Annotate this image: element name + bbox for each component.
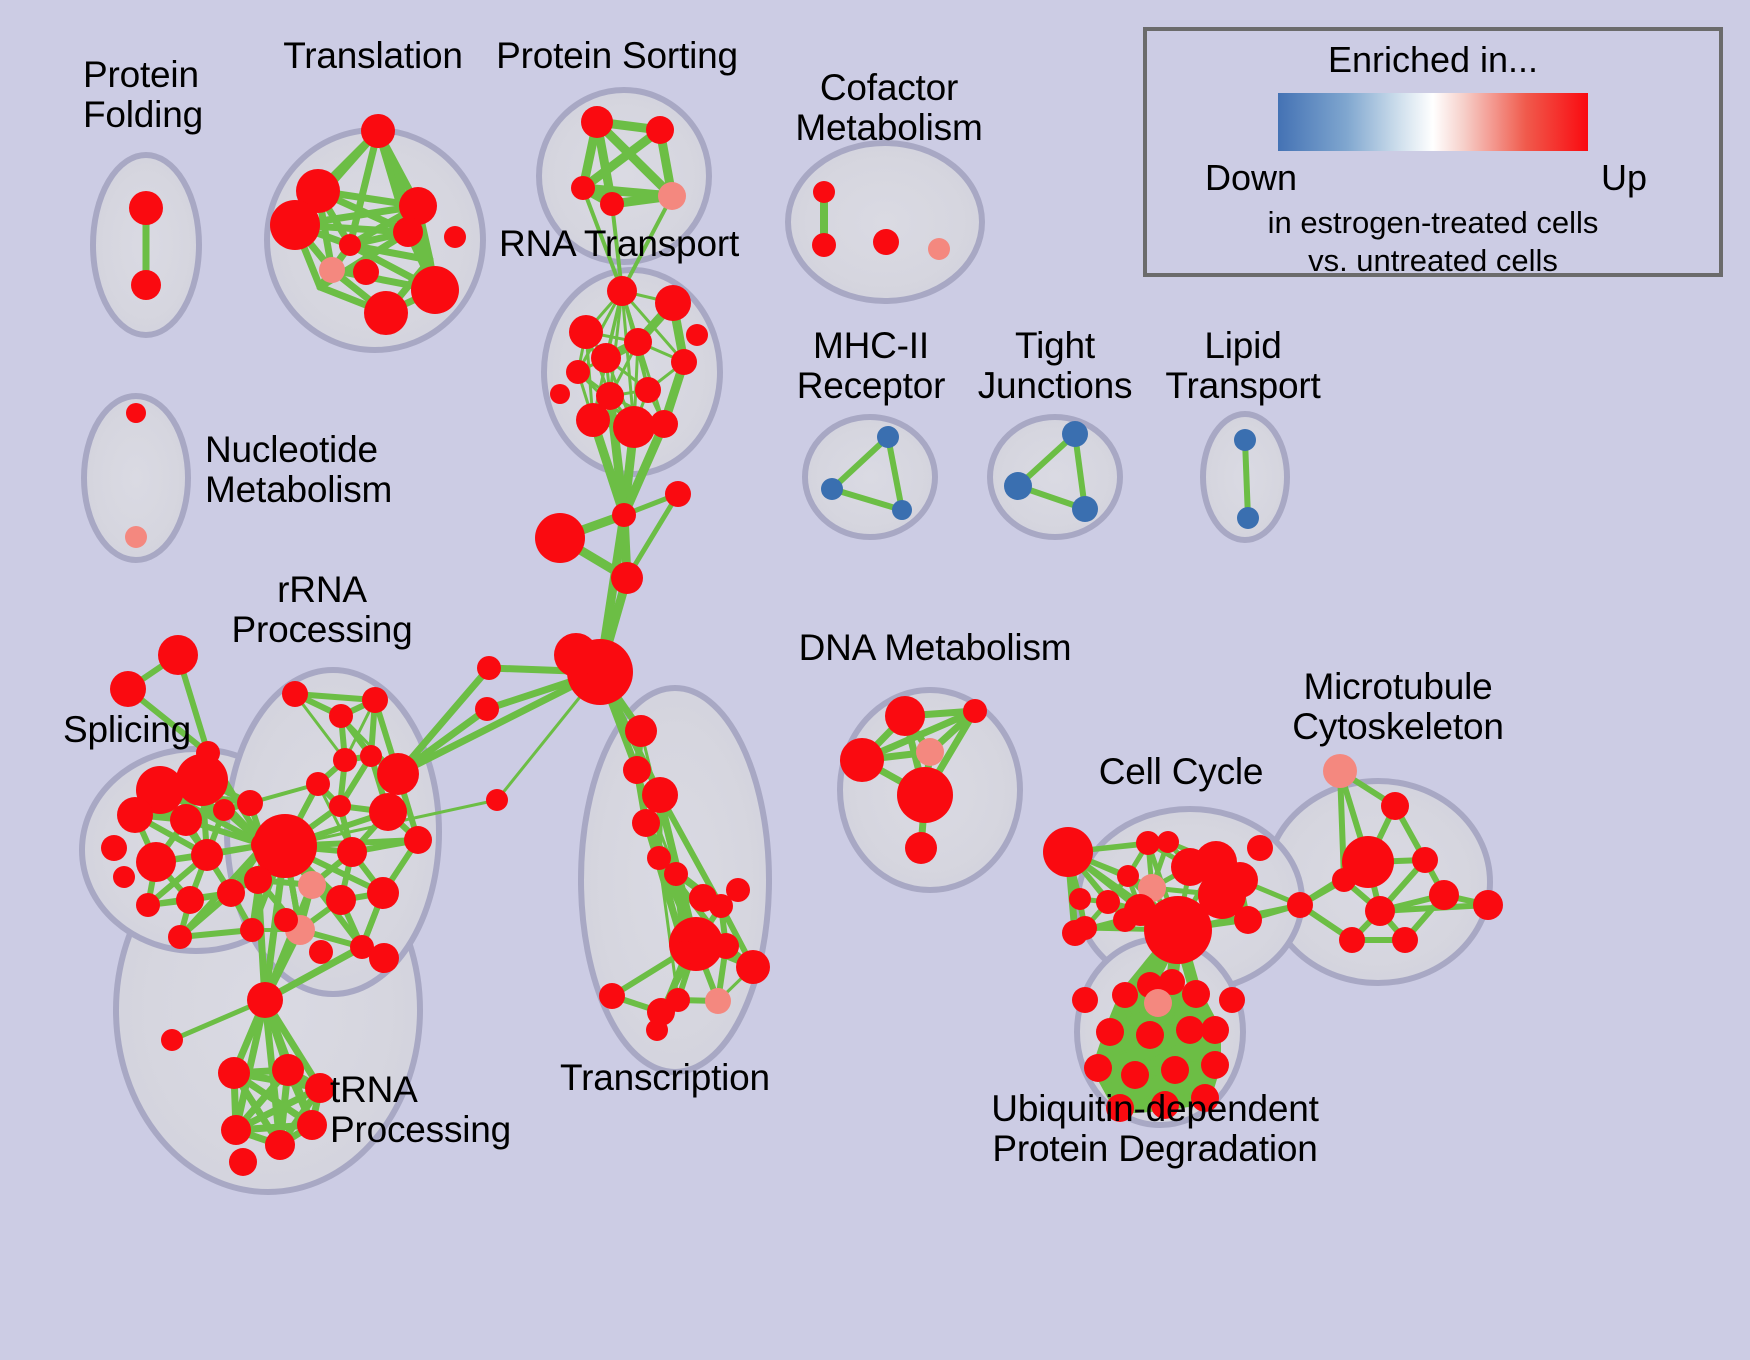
node [665,481,691,507]
node [624,328,652,356]
node [125,526,147,548]
node [916,738,944,766]
node [1112,982,1138,1008]
node [1121,1061,1149,1089]
node [1247,835,1273,861]
node [642,777,678,813]
node [353,259,379,285]
node [623,756,651,784]
node [885,696,925,736]
node [369,793,407,831]
node [535,513,585,563]
node [1144,989,1172,1017]
node [1136,1021,1164,1049]
node [339,234,361,256]
node [713,933,739,959]
node [646,116,674,144]
node [361,114,395,148]
node [158,635,198,675]
node [613,406,655,448]
node [411,266,459,314]
node [877,426,899,448]
legend-subtitle-line2: vs. untreated cells [1147,243,1719,279]
node [1062,920,1088,946]
node [1219,987,1245,1013]
node [1004,472,1032,500]
node [1234,906,1262,934]
hull-cofactor-metabolism [788,143,982,301]
node [673,941,697,965]
node [1176,1016,1204,1044]
node [611,562,643,594]
cluster-label-splicing: Splicing [63,710,191,750]
node [369,943,399,973]
legend-subtitle-line1: in estrogen-treated cells [1147,205,1719,241]
node [1136,831,1160,855]
node [1237,507,1259,529]
node [229,1148,257,1176]
node [1339,927,1365,953]
node [297,1110,327,1140]
node [477,656,501,680]
node [213,799,235,821]
legend-color-gradient-bar [1278,93,1588,151]
node [168,925,192,949]
node [576,403,610,437]
network-figure: Protein Folding Translation Protein Sort… [0,0,1750,1360]
node [840,738,884,782]
node [362,687,388,713]
node [1429,880,1459,910]
node [218,1057,250,1089]
cluster-label-cofactor-metabolism: Cofactor Metabolism [795,68,982,148]
cluster-label-microtubule: Microtubule Cytoskeleton [1292,667,1504,747]
node [689,884,717,912]
node [625,715,657,747]
node [191,839,223,871]
node [1084,1054,1112,1082]
node [136,842,176,882]
node [367,877,399,909]
node [664,862,688,886]
node [282,681,308,707]
cluster-label-translation: Translation [283,36,462,76]
node [1392,927,1418,953]
cluster-label-rna-transport: RNA Transport [499,224,739,264]
node [812,233,836,257]
node [550,384,570,404]
node [377,753,419,795]
node [221,1115,251,1145]
node [1072,496,1098,522]
node [1113,908,1137,932]
node [566,360,590,384]
node [486,789,508,811]
node [554,633,598,677]
node [686,324,708,346]
node [247,982,283,1018]
node [237,790,263,816]
cluster-label-dna-metabolism: DNA Metabolism [799,628,1072,668]
node [892,500,912,520]
node [274,908,298,932]
node [129,191,163,225]
node [599,983,625,1009]
cluster-label-nucleotide-metabolism: Nucleotide Metabolism [205,430,392,510]
node [161,1029,183,1051]
node [1062,421,1088,447]
node [581,106,613,138]
node [1161,1056,1189,1084]
node [298,871,326,899]
node [126,403,146,423]
node [272,1054,304,1086]
node [1069,888,1091,910]
node [897,767,953,823]
node [333,748,357,772]
cluster-label-protein-folding: Protein Folding [83,55,203,135]
cluster-label-protein-sorting: Protein Sorting [496,36,738,76]
node [813,181,835,203]
node [329,795,351,817]
cluster-label-rrna-processing: rRNA Processing [231,570,412,650]
node [1332,868,1356,892]
node [113,866,135,888]
node [1381,792,1409,820]
node [244,866,272,894]
node [1234,429,1256,451]
node [646,1019,668,1041]
node [101,835,127,861]
legend-panel: Enriched in... Down Up in estrogen-treat… [1143,27,1723,277]
node [928,238,950,260]
node [475,697,499,721]
node [632,809,660,837]
node [110,671,146,707]
node [329,704,353,728]
node [1072,987,1098,1013]
node [612,503,636,527]
node [1412,847,1438,873]
node [1222,862,1258,898]
node [963,699,987,723]
node [319,257,345,283]
legend-title: Enriched in... [1147,39,1719,81]
node [1117,865,1139,887]
cluster-label-tight-junctions: Tight Junctions [978,326,1133,406]
node [117,797,153,833]
node [571,176,595,200]
node [1473,890,1503,920]
cluster-label-mhc-ii-receptor: MHC-II Receptor [797,326,946,406]
node [650,410,678,438]
node [393,217,423,247]
node [306,772,330,796]
node [1043,827,1093,877]
cluster-label-cell-cycle: Cell Cycle [1099,752,1264,792]
node [1096,1018,1124,1046]
node [265,1130,295,1160]
node [591,343,621,373]
node [1323,754,1357,788]
node [658,182,686,210]
node [326,885,356,915]
node [600,192,624,216]
node [136,893,160,917]
legend-down-label: Down [1205,157,1297,199]
node [364,291,408,335]
node [1096,890,1120,914]
node [635,377,661,403]
node [905,832,937,864]
node [270,200,320,250]
node [1365,896,1395,926]
cluster-label-trna-processing: tRNA Processing [330,1070,511,1150]
node [444,226,466,248]
node [170,804,202,836]
node [736,950,770,984]
node [1287,892,1313,918]
node [1201,1051,1229,1079]
node [1201,1016,1229,1044]
node [217,879,245,907]
node [873,229,899,255]
node [337,837,367,867]
node [705,988,731,1014]
node [607,276,637,306]
node [131,270,161,300]
legend-up-label: Up [1601,157,1647,199]
node [1157,831,1179,853]
hull-mhc-ii [805,417,935,537]
node [569,315,603,349]
cluster-label-transcription: Transcription [560,1058,770,1098]
cluster-label-ubiquitin: Ubiquitin-dependent Protein Degradation [991,1089,1318,1169]
node [360,745,382,767]
node [404,826,432,854]
node [176,886,204,914]
node [176,754,228,806]
node [671,349,697,375]
node [309,940,333,964]
node [821,478,843,500]
node [655,285,691,321]
node [1182,980,1210,1008]
node [726,878,750,902]
cluster-label-lipid-transport: Lipid Transport [1165,326,1320,406]
node [240,918,264,942]
